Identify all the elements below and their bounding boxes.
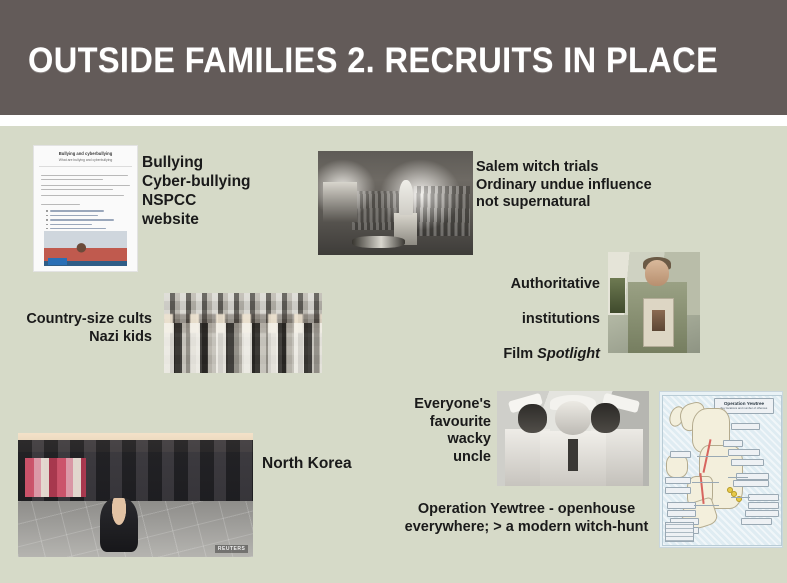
caption-spotlight: Authoritative institutions Film Spotligh… (470, 258, 600, 382)
nspcc-bullet-line (50, 219, 114, 220)
nspcc-bullet-dot (46, 210, 47, 211)
spotlight-man-head (645, 260, 669, 286)
nspcc-text-line (41, 175, 128, 176)
map-callout (741, 518, 772, 525)
salem-light-rays (382, 159, 422, 182)
salem-crowd-left (352, 191, 399, 231)
nspcc-divider (39, 166, 132, 167)
caption-operation-yewtree: Operation Yewtree - openhouse everywhere… (398, 501, 655, 536)
nspcc-text-line (41, 185, 130, 186)
nspcc-bullet-line (50, 224, 91, 225)
caption-film-title: Spotlight (537, 346, 600, 362)
youth-front-row (164, 323, 322, 373)
spotlight-bookshelf (610, 278, 625, 312)
map-leader-line (731, 497, 751, 498)
nspcc-bullet-line (50, 215, 97, 216)
map-callout (733, 480, 769, 487)
salem-accused-figure (399, 180, 413, 215)
nspcc-photo (44, 231, 126, 266)
map-callout (748, 494, 779, 501)
nspcc-bullet-dot (46, 215, 47, 216)
presentation-slide: OUTSIDE FAMILIES 2. RECRUITS IN PLACE Bu… (0, 0, 787, 583)
uncle-right-person-head (591, 403, 620, 432)
map-callout (748, 502, 779, 509)
nspcc-page-subtitle: What are bullying and cyberbullying (42, 158, 129, 162)
nspcc-bullet-line (50, 210, 104, 211)
nspcc-bullet-dot (46, 228, 47, 229)
map-callout (723, 440, 742, 447)
map-leader-line (697, 456, 729, 457)
map-callout (728, 449, 759, 456)
map-hotspot-marker (727, 487, 733, 493)
salem-judges-bench (323, 182, 357, 222)
caption-nspcc: Bullying Cyber-bullying NSPCC website (142, 154, 251, 230)
map-callout (670, 451, 692, 458)
caption-wacky-uncle: Everyone's favourite wacky uncle (398, 396, 491, 467)
map-leader-line (694, 505, 718, 506)
salem-witch-trial-engraving (318, 151, 473, 255)
map-callout (736, 473, 770, 480)
caption-film-prefix: Film (503, 346, 537, 362)
nspcc-page-title: Bullying and cyberbullying (42, 151, 129, 157)
spotlight-film-still (608, 252, 700, 353)
nk-colourful-coats (25, 458, 86, 498)
uncle-centre-head (555, 401, 591, 435)
caption-spotlight-line3: Film Spotlight (470, 346, 600, 364)
spotlight-held-document (643, 298, 674, 346)
nspcc-text-line (41, 204, 80, 205)
nspcc-text-line (41, 179, 103, 180)
map-callout (667, 502, 696, 509)
north-korea-mourning-photo: REUTERS (18, 433, 253, 557)
map-callout (667, 510, 696, 517)
map-leader-line (692, 482, 719, 483)
reuters-watermark: REUTERS (215, 545, 248, 553)
caption-spotlight-line2: institutions (470, 311, 600, 329)
map-callout (731, 423, 760, 430)
caption-nazi-kids: Country-size cults Nazi kids (10, 311, 152, 346)
nspcc-bullet-dot (46, 219, 47, 220)
wacky-uncle-photo (497, 391, 649, 486)
nk-kneeling-woman (100, 498, 138, 553)
map-legend (665, 522, 694, 543)
slide-body: Bullying and cyberbullying What are bull… (0, 126, 787, 583)
map-leader-line (728, 477, 748, 478)
caption-salem: Salem witch trials Ordinary undue influe… (476, 159, 652, 212)
slide-title-bar: OUTSIDE FAMILIES 2. RECRUITS IN PLACE (0, 0, 787, 115)
map-callout (665, 487, 691, 494)
map-title-text: Operation Yewtree (715, 401, 774, 406)
nspcc-bullet-line (50, 228, 106, 229)
salem-fallen-figure (352, 236, 405, 247)
uncle-necktie (568, 439, 577, 471)
nspcc-text-line (41, 189, 113, 190)
map-callout (665, 477, 691, 484)
hitler-youth-photo (164, 293, 322, 373)
map-callout (731, 459, 765, 466)
page-title: OUTSIDE FAMILIES 2. RECRUITS IN PLACE (28, 41, 718, 81)
nspcc-webpage-screenshot: Bullying and cyberbullying What are bull… (33, 145, 138, 272)
salem-crowd-right (414, 186, 470, 236)
caption-north-korea: North Korea (262, 455, 352, 474)
nspcc-text-line (41, 195, 123, 196)
operation-yewtree-uk-map: Operation Yewtree Key locations and numb… (659, 391, 783, 548)
caption-spotlight-line1: Authoritative (470, 276, 600, 294)
uncle-left-person-head (518, 404, 547, 433)
nspcc-bullet-dot (46, 224, 47, 225)
map-callout (745, 510, 779, 517)
